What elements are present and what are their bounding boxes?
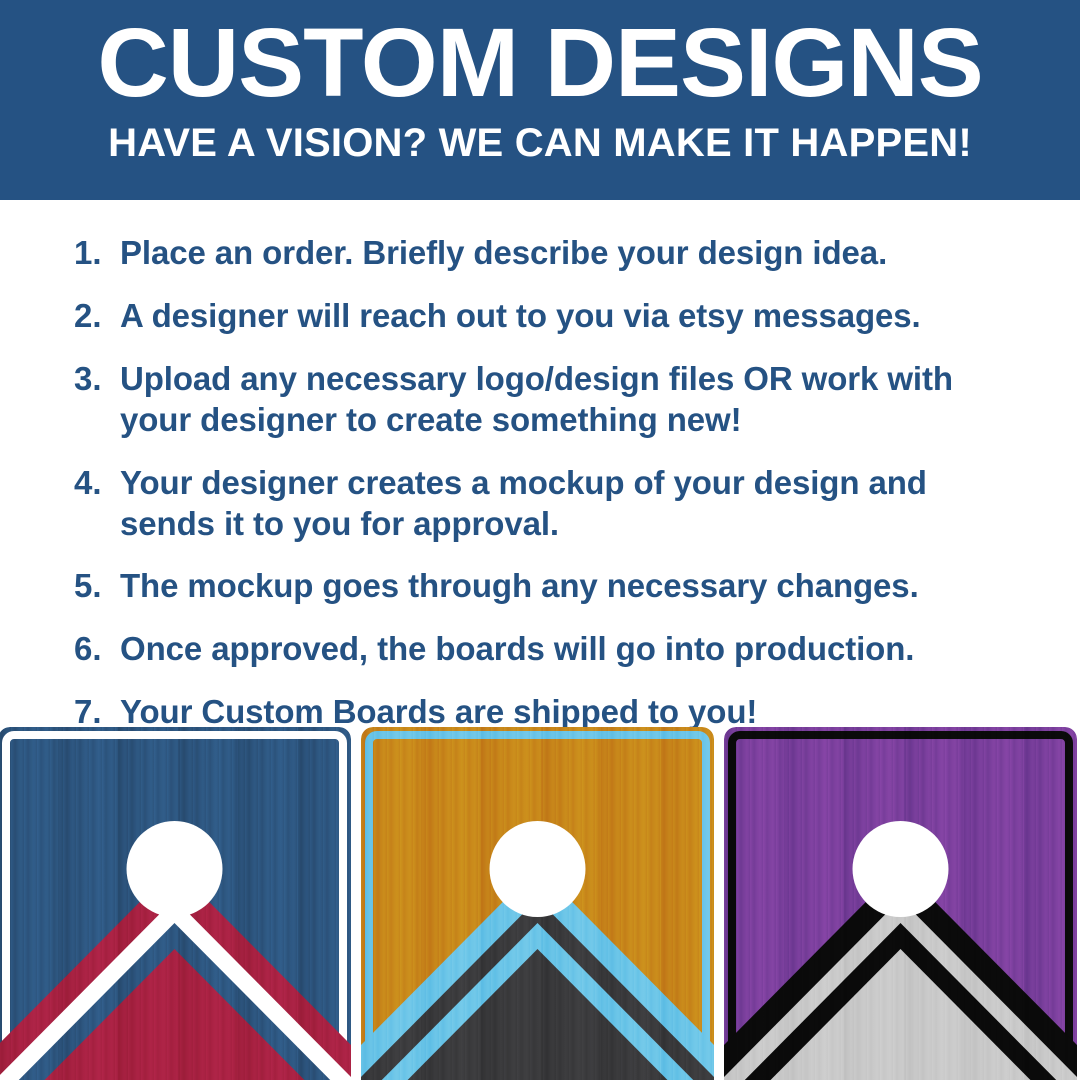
step-number: 1. — [74, 233, 120, 274]
list-item: 2. A designer will reach out to you via … — [74, 296, 1040, 337]
board-image-blue-red — [0, 727, 351, 1080]
list-item: 3. Upload any necessary logo/design file… — [74, 359, 1040, 441]
list-item: 1. Place an order. Briefly describe your… — [74, 233, 1040, 274]
list-item: 6. Once approved, the boards will go int… — [74, 629, 1040, 670]
step-number: 5. — [74, 566, 120, 607]
list-item: 5. The mockup goes through any necessary… — [74, 566, 1040, 607]
cornhole-board-graphic — [0, 727, 351, 1080]
list-item: 4. Your designer creates a mockup of you… — [74, 463, 1040, 545]
step-number: 2. — [74, 296, 120, 337]
step-text: Place an order. Briefly describe your de… — [120, 233, 887, 274]
step-number: 3. — [74, 359, 120, 400]
cornhole-board-graphic — [361, 727, 714, 1080]
page-title: CUSTOM DESIGNS — [97, 16, 982, 109]
page-subtitle: HAVE A VISION? WE CAN MAKE IT HAPPEN! — [108, 123, 972, 163]
step-number: 4. — [74, 463, 120, 504]
step-text: Upload any necessary logo/design files O… — [120, 359, 1010, 441]
step-number: 6. — [74, 629, 120, 670]
step-text: Once approved, the boards will go into p… — [120, 629, 914, 670]
header-banner: CUSTOM DESIGNS HAVE A VISION? WE CAN MAK… — [0, 0, 1080, 200]
steps-list: 1. Place an order. Briefly describe your… — [0, 200, 1080, 727]
step-text: The mockup goes through any necessary ch… — [120, 566, 919, 607]
board-gallery — [0, 727, 1080, 1080]
cornhole-board-graphic — [724, 727, 1077, 1080]
board-image-gold-blue — [361, 727, 714, 1080]
step-text: Your designer creates a mockup of your d… — [120, 463, 1010, 545]
board-image-purple-black — [724, 727, 1077, 1080]
step-text: A designer will reach out to you via ets… — [120, 296, 921, 337]
custom-designs-infographic: CUSTOM DESIGNS HAVE A VISION? WE CAN MAK… — [0, 0, 1080, 1080]
